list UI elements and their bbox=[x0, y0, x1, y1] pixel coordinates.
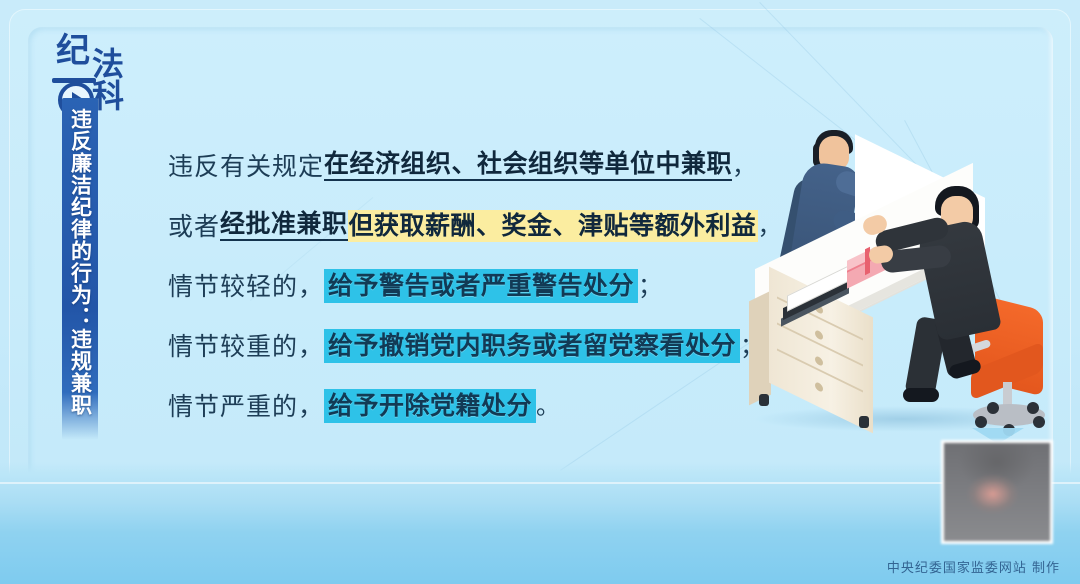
body-line: 违反有关规定 在经济组织、社会组织等单位中兼职 ， bbox=[168, 136, 808, 196]
body-line: 情节严重的， 给予开除党籍处分 。 bbox=[168, 376, 808, 436]
desk-foot bbox=[859, 416, 869, 428]
floor-horizon-line bbox=[0, 482, 1080, 484]
text-segment: 或者 bbox=[168, 214, 220, 239]
text-punctuation: ； bbox=[638, 274, 662, 298]
drawer-handle bbox=[815, 355, 823, 367]
desk-cabinet-side bbox=[749, 291, 771, 406]
chair-caster bbox=[975, 416, 987, 428]
chair-caster bbox=[987, 402, 999, 414]
text-segment-highlight-cyan: 给予警告或者严重警告处分 bbox=[324, 269, 638, 303]
text-segment-highlight-yellow: 但获取薪酬、奖金、津贴等额外利益 bbox=[348, 210, 758, 242]
poster-canvas: 纪 法 科 违反廉洁纪律的行为：违规兼职 违反有关规定 在经济组织、社会组织等单… bbox=[0, 0, 1080, 584]
body-line: 情节较重的， 给予撤销党内职务或者留党察看处分 ； bbox=[168, 316, 808, 376]
chair-caster bbox=[1033, 416, 1045, 428]
body-line: 或者 经批准兼职 但获取薪酬、奖金、津贴等额外利益 ， bbox=[168, 196, 808, 256]
text-segment-emphasis: 在经济组织、社会组织等单位中兼职 bbox=[324, 151, 732, 181]
text-segment: 违反有关规定 bbox=[168, 154, 324, 179]
text-segment-highlight-cyan: 给予撤销党内职务或者留党察看处分 bbox=[324, 329, 740, 363]
logo-char-fa: 法 bbox=[92, 48, 123, 80]
chair-caster bbox=[1027, 402, 1039, 414]
logo-char-ji: 纪 bbox=[56, 34, 89, 68]
text-segment: 情节严重的， bbox=[168, 394, 324, 419]
blurred-thumbnail[interactable] bbox=[941, 440, 1053, 544]
text-segment-emphasis: 经批准兼职 bbox=[220, 211, 348, 241]
person-black-shoe bbox=[903, 388, 939, 402]
credit-text: 中央纪委国家监委网站 制作 bbox=[887, 557, 1060, 576]
body-copy: 违反有关规定 在经济组织、社会组织等单位中兼职 ， 或者 经批准兼职 但获取薪酬… bbox=[168, 136, 808, 436]
text-segment-highlight-cyan: 给予开除党籍处分 bbox=[324, 389, 536, 423]
drawer-handle bbox=[815, 329, 823, 341]
desk-foot bbox=[759, 394, 769, 406]
office-illustration bbox=[735, 120, 1080, 460]
text-segment: 情节较重的， bbox=[168, 334, 324, 359]
text-segment: 情节较轻的， bbox=[168, 274, 324, 299]
text-punctuation: 。 bbox=[536, 394, 560, 418]
body-line: 情节较轻的， 给予警告或者严重警告处分 ； bbox=[168, 256, 808, 316]
vertical-title-banner: 违反廉洁纪律的行为：违规兼职 bbox=[62, 98, 98, 440]
vertical-title-text: 违反廉洁纪律的行为：违规兼职 bbox=[67, 108, 94, 416]
drawer-handle bbox=[815, 381, 823, 393]
